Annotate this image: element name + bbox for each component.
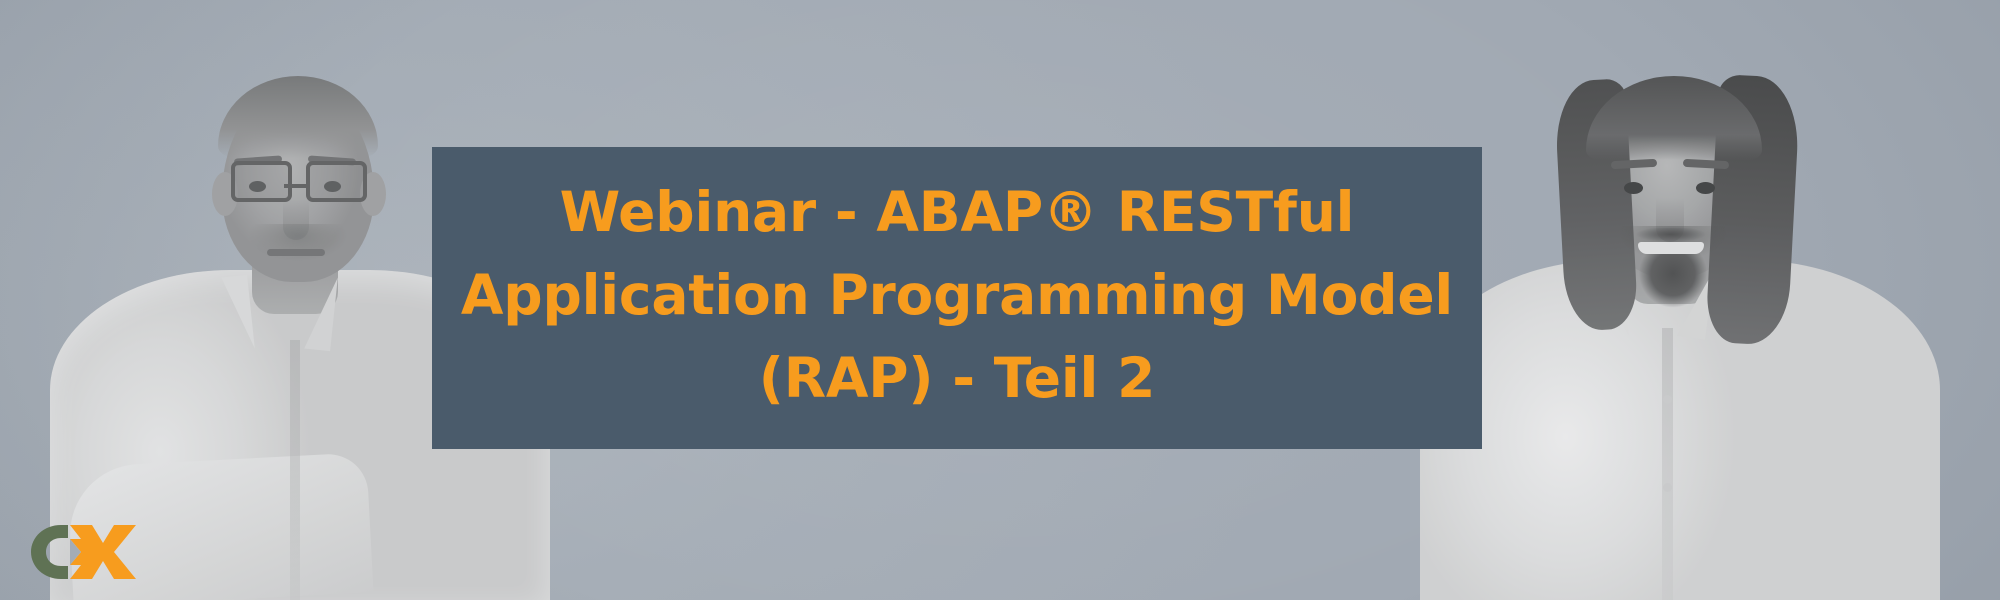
cx-logo-letter-c — [31, 525, 68, 579]
webinar-banner: Webinar - ABAP® RESTful Application Prog… — [0, 0, 2000, 600]
speaker-right-shirt-placket — [1662, 328, 1673, 600]
speaker-right-moustache — [1628, 228, 1714, 244]
speaker-left-glasses-lens-right — [306, 161, 367, 202]
speaker-right-eye-left — [1624, 182, 1643, 194]
title-line-3: (RAP) - Teil 2 — [759, 337, 1155, 420]
speaker-left-shirt-placket — [290, 340, 300, 600]
cx-logo-svg — [14, 512, 144, 592]
speaker-left-hair — [218, 76, 378, 158]
cx-logo[interactable] — [14, 512, 144, 592]
speaker-right-eye-right — [1696, 182, 1715, 194]
speaker-left-mouth — [267, 249, 325, 256]
title-line-1: Webinar - ABAP® RESTful — [560, 171, 1355, 254]
title-panel: Webinar - ABAP® RESTful Application Prog… — [432, 147, 1482, 449]
speaker-right-shirt-button-upper — [1663, 395, 1672, 404]
speaker-right-shirt-button-lower — [1663, 483, 1672, 492]
speaker-left-glasses-bridge — [284, 184, 306, 188]
speaker-left-glasses-lens-left — [231, 161, 292, 202]
speaker-right-portrait — [1400, 0, 1960, 600]
title-line-2: Application Programming Model — [461, 254, 1453, 337]
